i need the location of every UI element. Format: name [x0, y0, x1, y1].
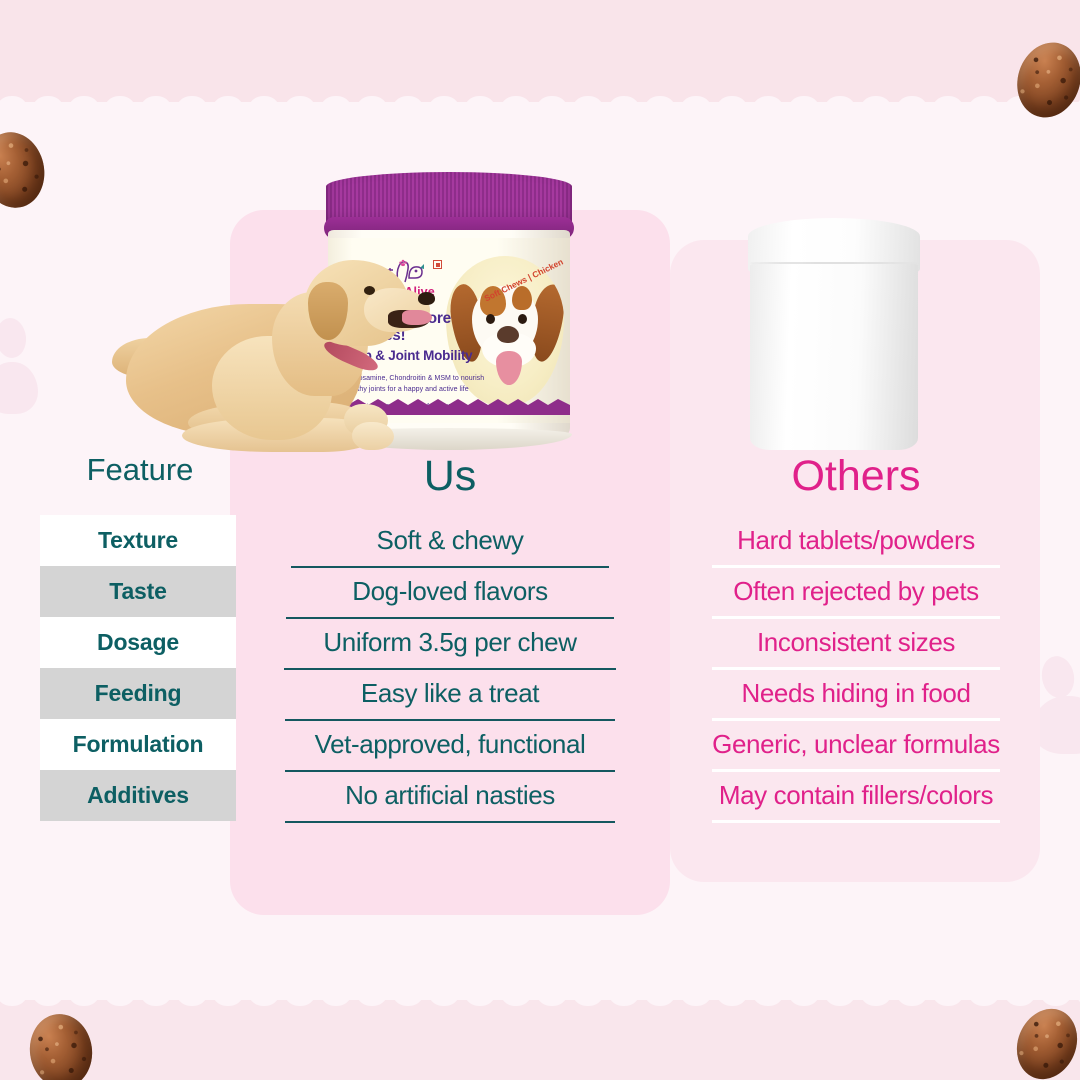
feature-label-formulation: Formulation — [40, 719, 236, 770]
others-value-texture: Hard tablets/powders — [737, 525, 975, 556]
column-header-us: Us — [250, 452, 650, 501]
top-band — [0, 0, 1080, 102]
poster-stage: Tails Alive Soft Chews | Chicken Woof! N… — [0, 0, 1080, 1080]
others-value-dosage: Inconsistent sizes — [757, 627, 955, 658]
dog-nose — [418, 292, 435, 305]
feature-column: Texture Taste Dosage Feeding Formulation… — [40, 515, 236, 821]
feature-label-taste: Taste — [40, 566, 236, 617]
us-value-row: No artificial nasties — [250, 770, 650, 821]
column-header-feature: Feature — [40, 452, 240, 488]
beagle-nose — [497, 326, 519, 343]
us-value-row: Uniform 3.5g per chew — [250, 617, 650, 668]
us-row-divider — [285, 821, 615, 823]
competitor-jar-body — [750, 264, 918, 450]
others-value-row: Needs hiding in food — [672, 668, 1040, 719]
others-value-taste: Often rejected by pets — [733, 576, 979, 607]
paw-print-icon-right — [1036, 648, 1080, 778]
others-value-feeding: Needs hiding in food — [741, 678, 970, 709]
us-value-additives: No artificial nasties — [345, 780, 555, 811]
us-value-row: Vet-approved, functional — [250, 719, 650, 770]
feature-label-additives: Additives — [40, 770, 236, 821]
paw-print-icon-left — [0, 318, 70, 436]
us-value-texture: Soft & chewy — [377, 525, 524, 556]
us-value-feeding: Easy like a treat — [361, 678, 539, 709]
us-value-taste: Dog-loved flavors — [352, 576, 548, 607]
us-value-row: Dog-loved flavors — [250, 566, 650, 617]
dog-tongue — [402, 310, 432, 325]
feature-label-dosage: Dosage — [40, 617, 236, 668]
others-value-formulation: Generic, unclear formulas — [712, 729, 1000, 760]
us-value-dosage: Uniform 3.5g per chew — [323, 627, 576, 658]
column-header-others: Others — [680, 452, 1032, 501]
feature-label-texture: Texture — [40, 515, 236, 566]
others-value-row: Generic, unclear formulas — [672, 719, 1040, 770]
dog-eye — [364, 286, 375, 295]
others-row-divider — [712, 820, 1000, 823]
others-value-row: Often rejected by pets — [672, 566, 1040, 617]
others-column: Hard tablets/powders Often rejected by p… — [672, 515, 1040, 821]
us-value-row: Easy like a treat — [250, 668, 650, 719]
dog-paw-front — [352, 422, 394, 450]
scallop-divider-top — [0, 96, 1080, 122]
others-value-row: May contain fillers/colors — [672, 770, 1040, 821]
others-value-additives: May contain fillers/colors — [719, 780, 993, 811]
feature-label-feeding: Feeding — [40, 668, 236, 719]
bottom-band — [0, 1000, 1080, 1080]
scallop-divider-bottom — [0, 980, 1080, 1006]
beagle-eye-right — [518, 314, 527, 324]
others-value-row: Inconsistent sizes — [672, 617, 1040, 668]
us-column: Soft & chewy Dog-loved flavors Uniform 3… — [250, 515, 650, 821]
us-value-row: Soft & chewy — [250, 515, 650, 566]
competitor-jar-image — [746, 218, 922, 450]
golden-retriever-image — [126, 252, 436, 460]
us-value-formulation: Vet-approved, functional — [315, 729, 586, 760]
others-value-row: Hard tablets/powders — [672, 515, 1040, 566]
